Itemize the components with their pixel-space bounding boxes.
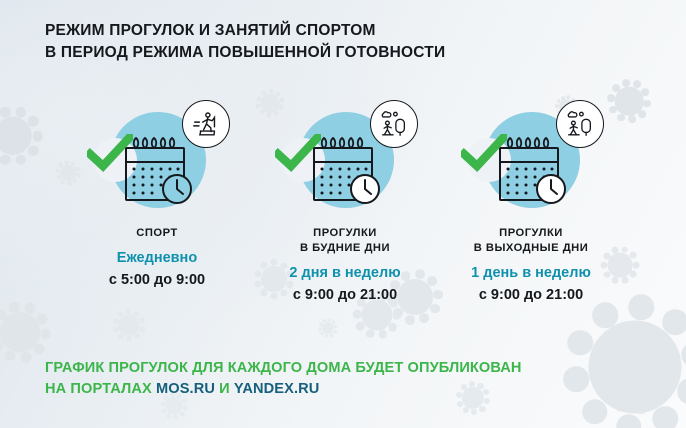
- rule-card-weekend-walks: ПРОГУЛКИ В ВЫХОДНЫЕ ДНИ 1 день в неделю …: [438, 100, 624, 304]
- caption-line-2: В БУДНИЕ ДНИ: [300, 241, 390, 256]
- rules-card-row: СПОРТ Ежедневно с 5:00 до 9:00: [0, 100, 686, 300]
- hours-value: с 9:00 до 21:00: [293, 287, 397, 304]
- virus-decoration: [112, 308, 146, 342]
- calendar-clock-icon: [492, 136, 576, 210]
- calendar-clock-icon: [306, 136, 390, 210]
- card-caption: ПРОГУЛКИ В БУДНИЕ ДНИ: [300, 226, 390, 256]
- title-line-2: В ПЕРИОД РЕЖИМА ПОВЫШЕННОЙ ГОТОВНОСТИ: [45, 42, 645, 64]
- walking-outdoors-icon: [370, 100, 418, 148]
- frequency-value: 2 дня в неделю: [289, 265, 400, 282]
- footer-conjunction: И: [215, 381, 234, 397]
- footer-line-1: ГРАФИК ПРОГУЛОК ДЛЯ КАЖДОГО ДОМА БУДЕТ О…: [45, 358, 665, 379]
- footer-line-2-prefix: НА ПОРТАЛАХ: [45, 381, 156, 397]
- icon-group: [82, 100, 232, 218]
- icon-group: [456, 100, 606, 218]
- portal-link-yandex-ru[interactable]: YANDEX.RU: [234, 381, 320, 397]
- rule-card-sport: СПОРТ Ежедневно с 5:00 до 9:00: [62, 100, 252, 289]
- icon-group: [270, 100, 420, 218]
- card-caption: СПОРТ: [136, 226, 177, 241]
- infographic-poster: РЕЖИМ ПРОГУЛОК И ЗАНЯТИЙ СПОРТОМ В ПЕРИО…: [0, 0, 686, 428]
- portal-link-mos-ru[interactable]: MOS.RU: [156, 381, 215, 397]
- calendar-clock-icon: [118, 136, 202, 210]
- title-line-1: РЕЖИМ ПРОГУЛОК И ЗАНЯТИЙ СПОРТОМ: [45, 20, 645, 42]
- footer-note: ГРАФИК ПРОГУЛОК ДЛЯ КАЖДОГО ДОМА БУДЕТ О…: [45, 358, 665, 400]
- caption-line-2: В ВЫХОДНЫЕ ДНИ: [474, 241, 589, 256]
- caption-line-1: ПРОГУЛКИ: [300, 226, 390, 241]
- treadmill-runner-icon: [182, 100, 230, 148]
- virus-decoration: [318, 318, 338, 338]
- walking-outdoors-icon: [556, 100, 604, 148]
- caption-line-1: ПРОГУЛКИ: [474, 226, 589, 241]
- caption-line-1: СПОРТ: [136, 226, 177, 241]
- poster-title: РЕЖИМ ПРОГУЛОК И ЗАНЯТИЙ СПОРТОМ В ПЕРИО…: [45, 20, 645, 64]
- card-caption: ПРОГУЛКИ В ВЫХОДНЫЕ ДНИ: [474, 226, 589, 256]
- hours-value: с 5:00 до 9:00: [109, 272, 205, 289]
- virus-decoration: [0, 300, 52, 364]
- footer-line-2: НА ПОРТАЛАХ MOS.RU И YANDEX.RU: [45, 379, 665, 400]
- frequency-value: 1 день в неделю: [471, 265, 591, 282]
- frequency-value: Ежедневно: [117, 250, 197, 267]
- hours-value: с 9:00 до 21:00: [479, 287, 583, 304]
- rule-card-weekday-walks: ПРОГУЛКИ В БУДНИЕ ДНИ 2 дня в неделю с 9…: [252, 100, 438, 304]
